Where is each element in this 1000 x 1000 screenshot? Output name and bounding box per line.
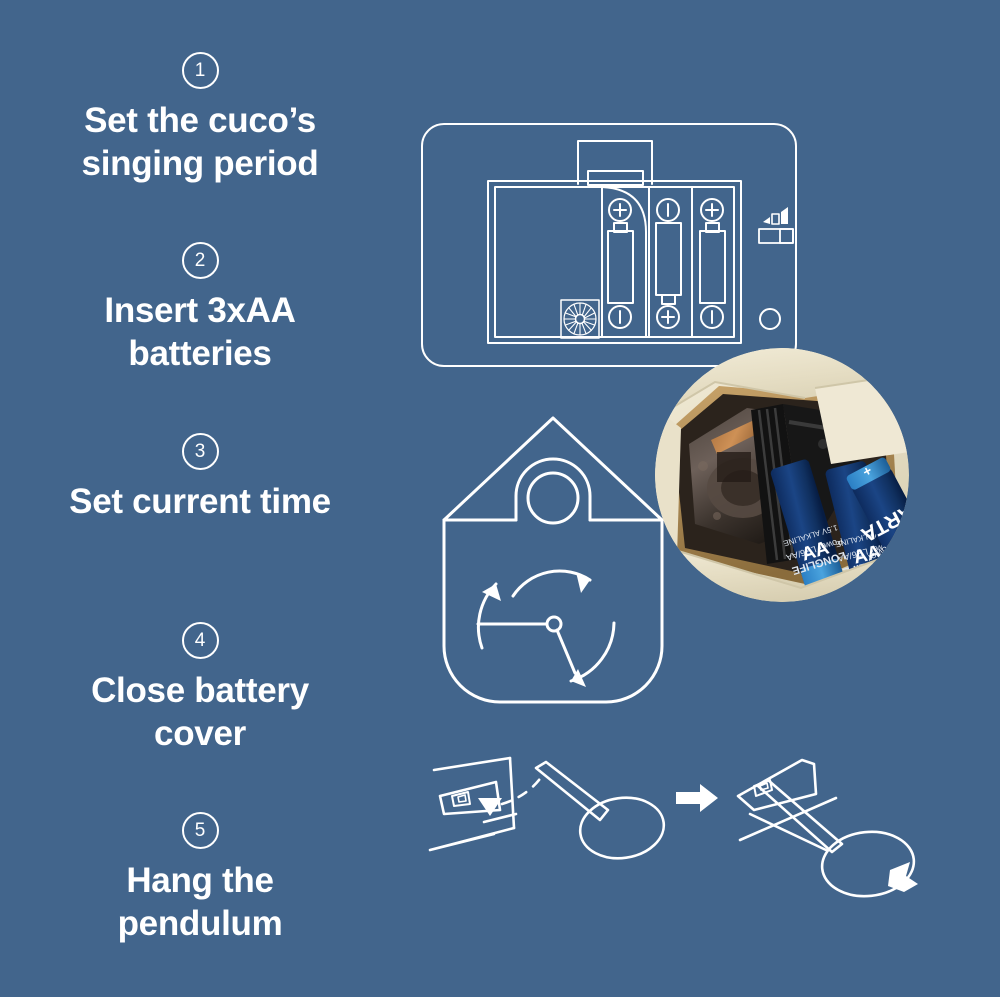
step-list: 1 Set the cuco’s singing period 2 Insert… [0, 0, 400, 1000]
step-item-3: 3 Set current time [0, 433, 400, 523]
step-badge-5: 5 [182, 812, 219, 849]
latch-tab-outline [578, 141, 652, 184]
pendulum-before-state [430, 758, 668, 864]
step-item-5: 5 Hang the pendulum [0, 812, 400, 946]
bird-door-arch [516, 459, 590, 520]
step-item-1: 1 Set the cuco’s singing period [0, 52, 400, 186]
battery-body-3 [700, 231, 725, 303]
transition-arrow-icon [676, 784, 718, 812]
clock-body-outline [444, 520, 662, 702]
pendulum-hanging-diagram [418, 752, 918, 892]
pendulum-rod [536, 762, 608, 820]
battery-compartment-photo: LONGLIFE Power LR6/AA 1.5V ALKALINE AA L… [655, 348, 909, 602]
cuckoo-clock-time-diagram [438, 408, 668, 708]
bird-door-circle [528, 473, 578, 523]
speaker-grille-icon [561, 300, 599, 338]
step-label-5: Hang the pendulum [0, 859, 400, 946]
rotation-arrows [478, 571, 614, 687]
step-label-4: Close battery cover [0, 669, 400, 756]
insertion-path-dashed [502, 776, 542, 804]
step-badge-4: 4 [182, 622, 219, 659]
pendulum-detached [536, 762, 668, 864]
instruction-graphic: 1 Set the cuco’s singing period 2 Insert… [0, 0, 1000, 997]
clock-center-pin [547, 617, 561, 631]
battery-body-1 [608, 231, 633, 303]
clock-underside-line [430, 828, 514, 850]
battery-slot-3 [700, 199, 725, 328]
pendulum-bob [576, 792, 668, 863]
step-label-2: Insert 3xAA batteries [0, 289, 400, 376]
battery-body-2 [656, 223, 681, 295]
step-badge-1: 1 [182, 52, 219, 89]
step-item-2: 2 Insert 3xAA batteries [0, 242, 400, 376]
battery-nub-2 [662, 295, 675, 304]
roof-outline [444, 418, 662, 520]
volume-level-icon [763, 207, 788, 224]
battery-compartment-diagram [418, 112, 818, 382]
step-label-1: Set the cuco’s singing period [0, 99, 400, 186]
volume-slider-switch [759, 229, 793, 243]
step-badge-2: 2 [182, 242, 219, 279]
step-badge-3: 3 [182, 433, 219, 470]
step-label-3: Set current time [0, 480, 400, 523]
battery-slot-2 [656, 199, 681, 328]
battery-slot-1 [608, 199, 633, 328]
hour-hand [557, 630, 575, 673]
pendulum-after-state [738, 760, 918, 901]
step-item-4: 4 Close battery cover [0, 622, 400, 756]
reset-button-hole [760, 309, 780, 329]
latch-inner-rect [588, 171, 643, 185]
